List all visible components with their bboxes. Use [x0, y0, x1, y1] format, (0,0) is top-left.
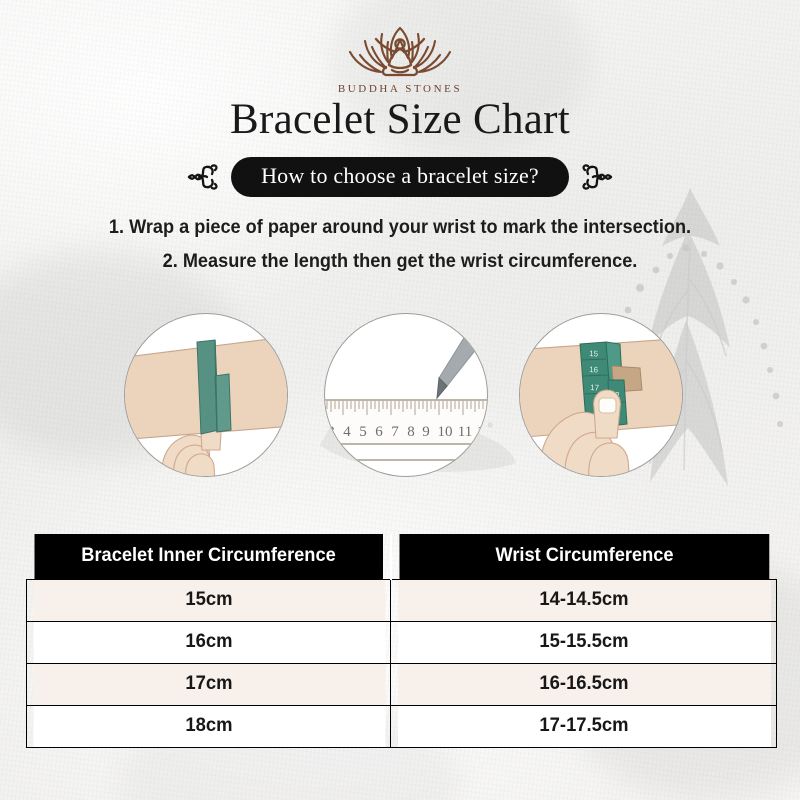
instruction-step-2: 2. Measure the length then get the wrist…	[28, 250, 772, 273]
cell-wrist-size: 17-17.5cm	[396, 706, 770, 748]
svg-text:15: 15	[589, 349, 599, 358]
brand-logo: BUDDHA STONES	[0, 20, 800, 95]
illustration-wrap-paper-around-wrist	[124, 313, 288, 477]
illustration-measure-with-ruler: 345 678 91011 12	[324, 313, 488, 477]
svg-text:17: 17	[590, 383, 600, 392]
lotus-meditation-icon	[334, 20, 466, 82]
table-row: 18cm 17-17.5cm	[27, 706, 777, 748]
ruler-and-pencil-icon: 345 678 91011 12	[325, 314, 487, 476]
cell-bracelet-size: 17cm	[32, 664, 385, 706]
svg-text:10: 10	[438, 424, 453, 440]
svg-text:16: 16	[589, 365, 599, 374]
flourish-ornament-left-icon	[186, 157, 220, 197]
arm-with-paper-strip-icon	[125, 314, 287, 476]
svg-text:4: 4	[343, 424, 351, 440]
tape-measure-on-wrist-icon: 15 16 17 2	[520, 314, 682, 476]
column-header-wrist-circumference: Wrist Circumference	[398, 534, 769, 580]
illustration-read-tape-measure: 15 16 17 2	[519, 313, 683, 477]
how-to-banner: How to choose a bracelet size?	[0, 157, 800, 197]
svg-text:5: 5	[359, 424, 367, 440]
cell-bracelet-size: 16cm	[32, 622, 385, 664]
flourish-ornament-right-icon	[580, 157, 614, 197]
cell-wrist-size: 15-15.5cm	[396, 622, 770, 664]
svg-text:8: 8	[407, 424, 415, 440]
how-to-pill-label: How to choose a bracelet size?	[231, 157, 569, 197]
table-row: 16cm 15-15.5cm	[27, 622, 777, 664]
svg-text:9: 9	[422, 424, 430, 440]
cell-bracelet-size: 18cm	[32, 706, 385, 748]
cell-wrist-size: 14-14.5cm	[396, 580, 770, 622]
svg-text:7: 7	[391, 424, 399, 440]
size-chart-table: Bracelet Inner Circumference Wrist Circu…	[26, 534, 777, 748]
cell-bracelet-size: 15cm	[32, 580, 385, 622]
table-row: 17cm 16-16.5cm	[27, 664, 777, 706]
table-row: 15cm 14-14.5cm	[27, 580, 777, 622]
svg-text:6: 6	[375, 424, 383, 440]
table-header-row: Bracelet Inner Circumference Wrist Circu…	[27, 534, 777, 580]
cell-wrist-size: 16-16.5cm	[396, 664, 770, 706]
brand-name: BUDDHA STONES	[0, 83, 800, 95]
instruction-step-1: 1. Wrap a piece of paper around your wri…	[28, 216, 772, 239]
page-title: Bracelet Size Chart	[0, 95, 800, 144]
column-header-bracelet-inner-circumference: Bracelet Inner Circumference	[34, 534, 383, 580]
svg-text:11: 11	[458, 424, 472, 440]
